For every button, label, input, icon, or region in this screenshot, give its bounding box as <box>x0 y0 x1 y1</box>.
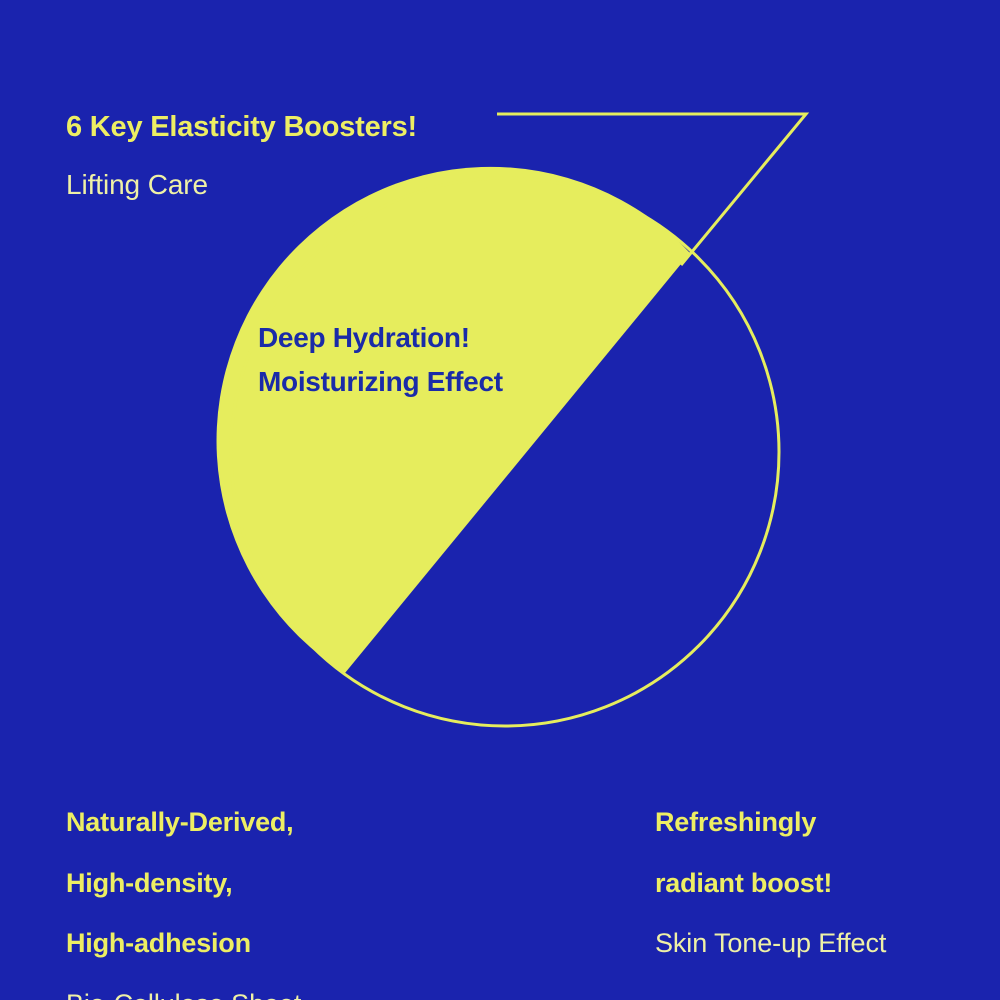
callout-bottom-left-heading-line-3: High-adhesion <box>66 924 301 964</box>
callout-bottom-right-heading-line-1: Refreshingly <box>655 803 886 843</box>
callout-bottom-right-subtext: Skin Tone-up Effect <box>655 924 886 964</box>
callout-bottom-left-subtext: Bio-Cellulose Sheet <box>66 985 301 1000</box>
callout-top-left-heading: 6 Key Elasticity Boosters! <box>66 109 417 147</box>
callout-top-left: 6 Key Elasticity Boosters! Lifting Care <box>66 88 417 224</box>
callout-bottom-right: Refreshingly radiant boost! Skin Tone-up… <box>655 782 886 985</box>
center-label: Deep Hydration! Moisturizing Effect <box>258 316 588 404</box>
callout-bottom-right-heading-line-2: radiant boost! <box>655 864 886 904</box>
center-label-line-1: Deep Hydration! <box>258 316 588 360</box>
infographic-canvas: 6 Key Elasticity Boosters! Lifting Care … <box>0 0 1000 1000</box>
callout-bottom-left-heading-line-1: Naturally-Derived, <box>66 803 301 843</box>
yellow-segment-shape <box>217 167 690 673</box>
callout-bottom-left-heading-line-2: High-density, <box>66 864 301 904</box>
callout-bottom-left: Naturally-Derived, High-density, High-ad… <box>66 782 301 1000</box>
center-label-line-2: Moisturizing Effect <box>258 360 588 404</box>
callout-top-left-subtext: Lifting Care <box>66 167 417 203</box>
